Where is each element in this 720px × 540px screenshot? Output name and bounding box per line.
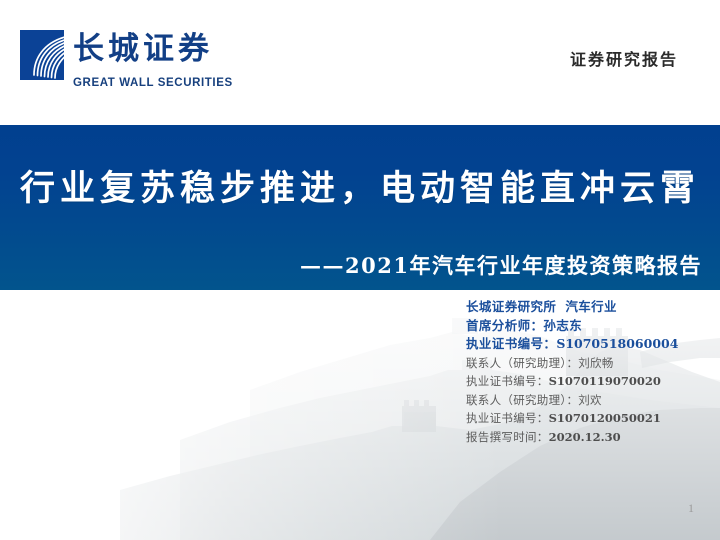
great-wall-fan-logo-icon [20, 30, 64, 80]
contact-role-line-1: 联系人（研究助理）：刘欣畅 [466, 354, 716, 373]
report-type-label: 证券研究报告 [570, 46, 678, 70]
report-date-label: 报告撰写时间： [466, 430, 549, 444]
contact-role-line-2: 联系人（研究助理）：刘欢 [466, 391, 716, 410]
report-date-line: 报告撰写时间：2020.12.30 [466, 428, 716, 447]
company-logo: 长城证券 GREAT WALL SECURITIES [20, 30, 233, 89]
company-name-en: GREAT WALL SECURITIES [73, 77, 233, 89]
contact-role-label-1: 联系人（研究助理）： [466, 356, 578, 370]
chief-cert-label: 执业证书编号： [466, 336, 556, 351]
institute-line: 长城证券研究所汽车行业 [466, 298, 716, 317]
contact-cert-number-2: S1070120050021 [549, 411, 661, 425]
sector-name: 汽车行业 [565, 299, 617, 314]
contact-cert-number-1: S1070119070020 [549, 374, 661, 388]
company-name-cn: 长城证券 [73, 30, 213, 68]
chief-cert-line: 执业证书编号：S1070518060004 [466, 335, 716, 354]
report-subtitle: ——2021年汽车行业年度投资策略报告 [300, 252, 702, 280]
contact-cert-line-2: 执业证书编号：S1070120050021 [466, 409, 716, 428]
page-number: 1 [688, 501, 694, 516]
contact-name-1: 刘欣畅 [578, 356, 613, 370]
contact-name-2: 刘欢 [578, 393, 602, 407]
chief-analyst-name: 孙志东 [543, 318, 582, 333]
report-title: 行业复苏稳步推进，电动智能直冲云霄 [0, 167, 720, 211]
contact-cert-label-1: 执业证书编号： [466, 374, 549, 388]
analyst-info-block: 长城证券研究所汽车行业 首席分析师：孙志东 执业证书编号：S1070518060… [466, 298, 716, 446]
contact-role-label-2: 联系人（研究助理）： [466, 393, 578, 407]
chief-cert-number: S1070518060004 [556, 336, 678, 351]
chief-analyst-line: 首席分析师：孙志东 [466, 317, 716, 336]
contact-cert-line-1: 执业证书编号：S1070119070020 [466, 372, 716, 391]
title-banner: 行业复苏稳步推进，电动智能直冲云霄 ——2021年汽车行业年度投资策略报告 [0, 125, 720, 290]
slide-header: 长城证券 GREAT WALL SECURITIES 证券研究报告 [0, 0, 720, 125]
contact-cert-label-2: 执业证书编号： [466, 411, 549, 425]
institute-name: 长城证券研究所 [466, 299, 556, 314]
report-date-value: 2020.12.30 [549, 430, 621, 444]
slide-root: 长城证券 GREAT WALL SECURITIES 证券研究报告 行业复苏稳步… [0, 0, 720, 540]
chief-analyst-label: 首席分析师： [466, 318, 543, 333]
